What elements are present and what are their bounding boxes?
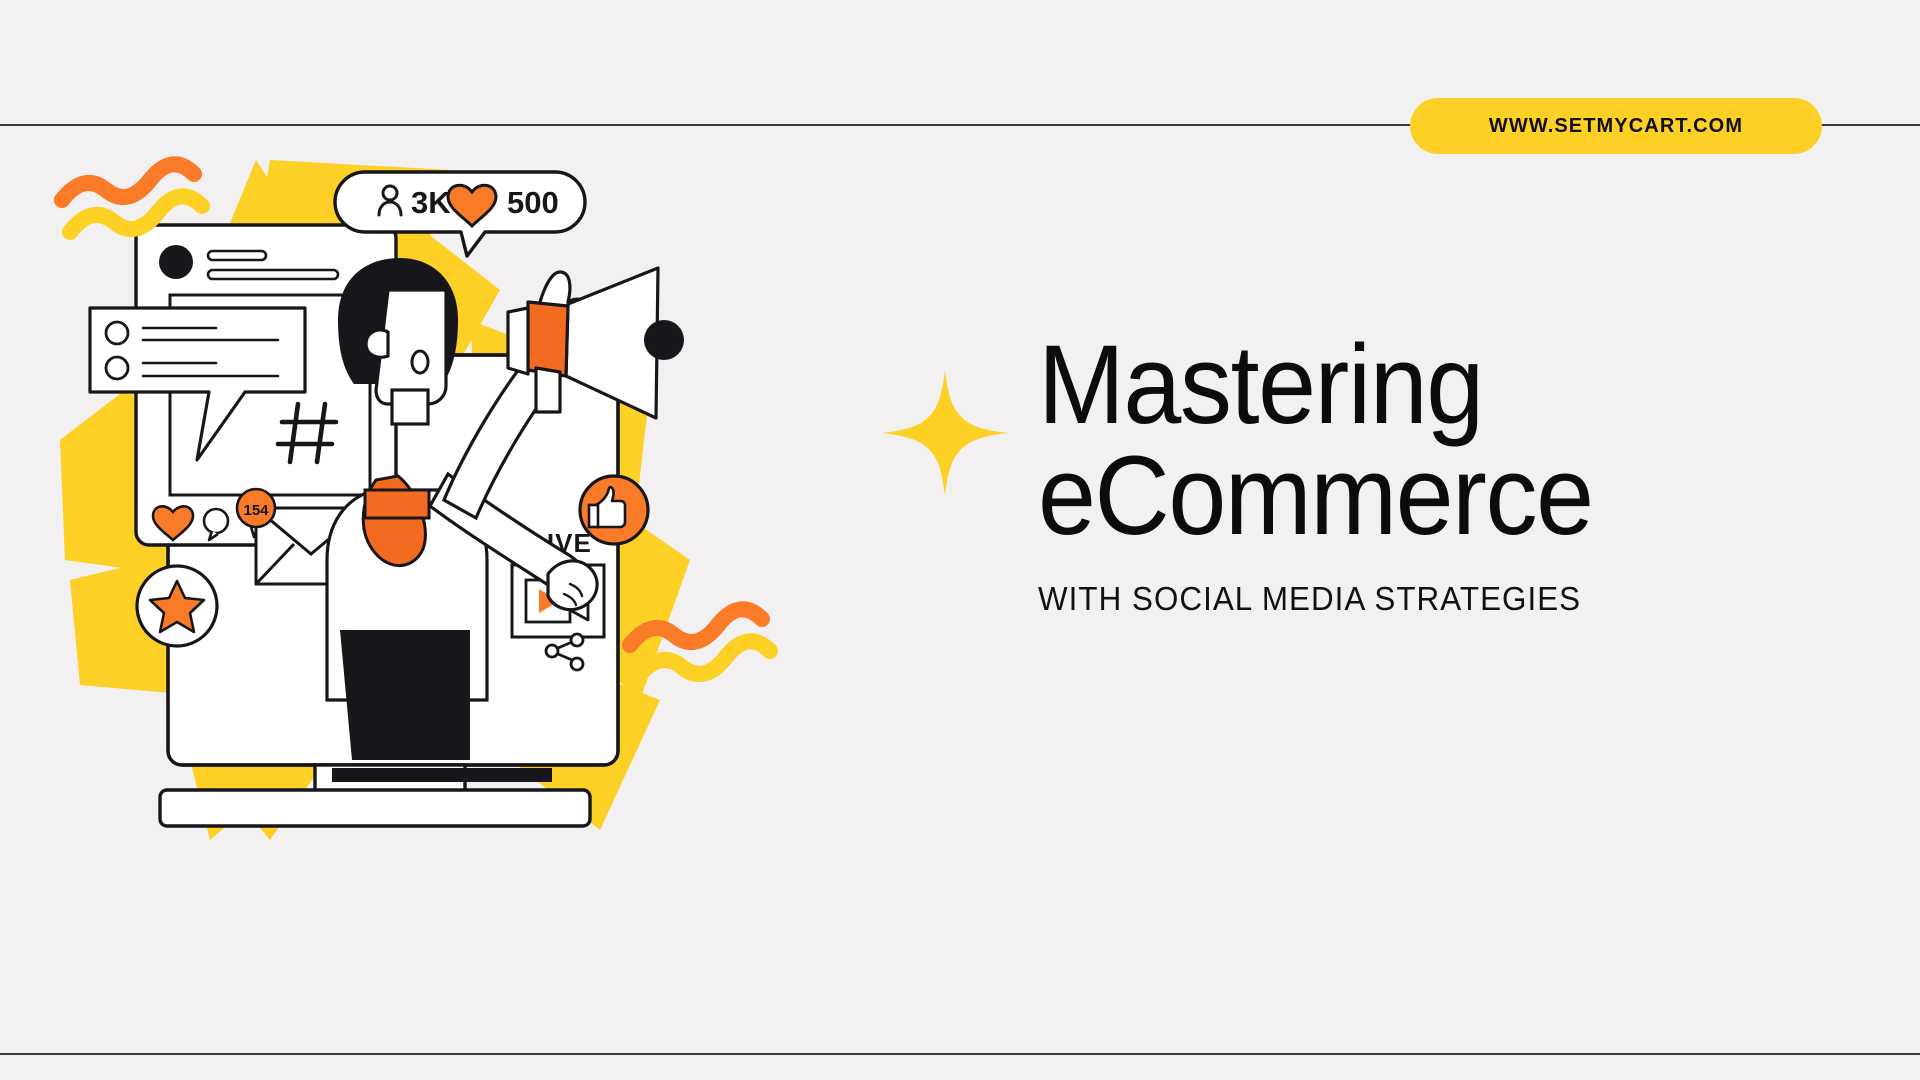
social-media-marketing-illustration: 3K 500 154 [40,140,960,900]
comment-bubble-icon [204,509,228,533]
squiggle-top-left [62,164,202,232]
website-url-badge[interactable]: WWW.SETMYCART.COM [1410,98,1822,154]
footer-divider [0,1053,1920,1055]
hero-text-block: Mastering eCommerce WITH SOCIAL MEDIA ST… [1038,330,1898,618]
page-subtitle: WITH SOCIAL MEDIA STRATEGIES [1038,580,1855,618]
followers-value: 3K [411,185,451,220]
avatar-circle-icon [159,245,193,279]
website-url-label: WWW.SETMYCART.COM [1489,115,1743,138]
poster-canvas: WWW.SETMYCART.COM Mastering eCommerce WI… [0,0,1920,1080]
page-title-line-1: Mastering [1038,330,1838,441]
mail-count-value: 154 [243,502,269,519]
page-title-line-2: eCommerce [1038,441,1838,552]
star-rating-badge [137,566,217,646]
likes-value: 500 [507,185,559,220]
